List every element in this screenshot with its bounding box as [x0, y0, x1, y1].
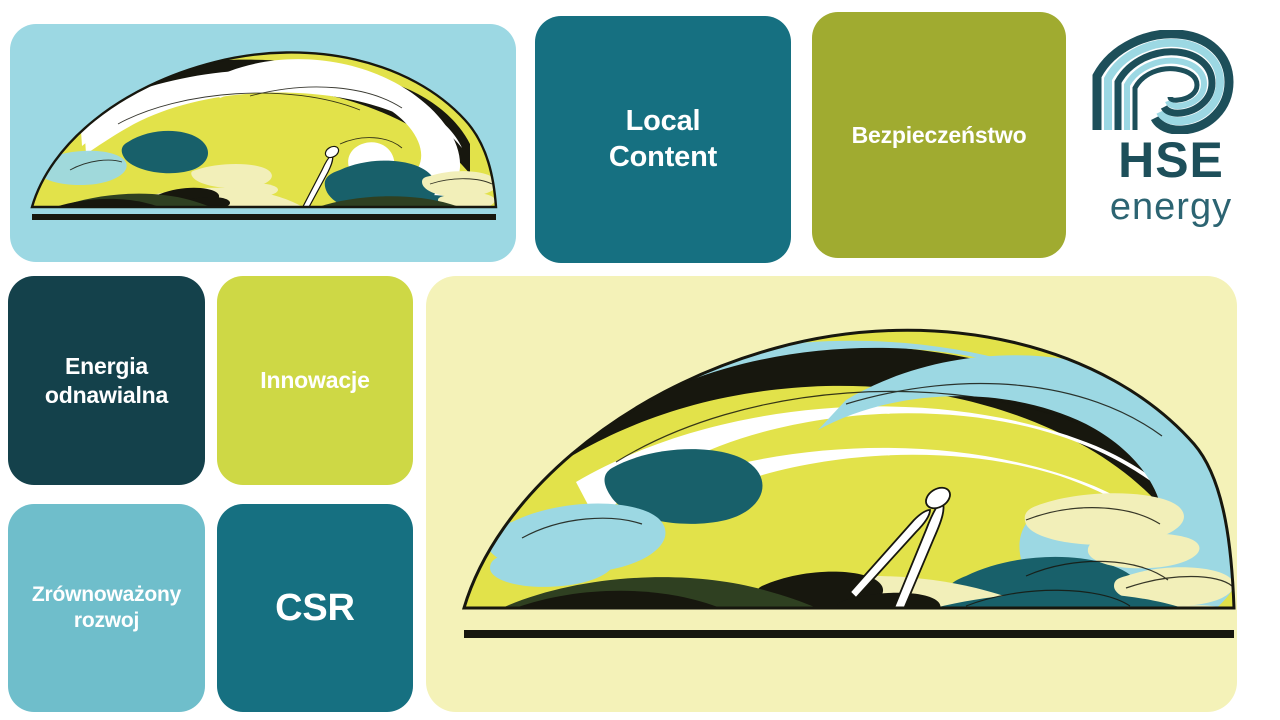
tile-csr[interactable]: CSR: [217, 504, 413, 712]
wave-swoosh-icon: [1091, 30, 1241, 134]
tile-innowacje-label: Innowacje: [250, 366, 379, 394]
tile-local-content[interactable]: Local Content: [535, 16, 791, 263]
abstract-landscape-illustration-icon: [10, 24, 516, 262]
tile-energia-odnawialna-label: Energia odnawialna: [35, 352, 178, 408]
hse-energy-wordmark: HSE energy: [1083, 134, 1259, 228]
tile-zrownowazony-rozwoj-label: Zrównoważony rozwoj: [22, 582, 191, 633]
hse-energy-logo[interactable]: HSE energy: [1083, 30, 1263, 230]
abstract-landscape-illustration-icon: [426, 276, 1237, 712]
tile-bezpieczenstwo[interactable]: Bezpieczeństwo: [812, 12, 1066, 258]
logo-primary-text: HSE: [1083, 134, 1259, 186]
illustration-panel-top[interactable]: [10, 24, 516, 262]
tile-bezpieczenstwo-label: Bezpieczeństwo: [842, 121, 1037, 149]
tile-csr-label: CSR: [265, 585, 365, 631]
logo-secondary-text: energy: [1083, 186, 1259, 228]
illustration-panel-main[interactable]: [426, 276, 1237, 712]
tile-local-content-label: Local Content: [599, 104, 727, 175]
tile-zrownowazony-rozwoj[interactable]: Zrównoważony rozwoj: [8, 504, 205, 712]
slide-canvas: Local Content Bezpieczeństwo HSE energy …: [0, 0, 1280, 720]
tile-energia-odnawialna[interactable]: Energia odnawialna: [8, 276, 205, 485]
tile-innowacje[interactable]: Innowacje: [217, 276, 413, 485]
